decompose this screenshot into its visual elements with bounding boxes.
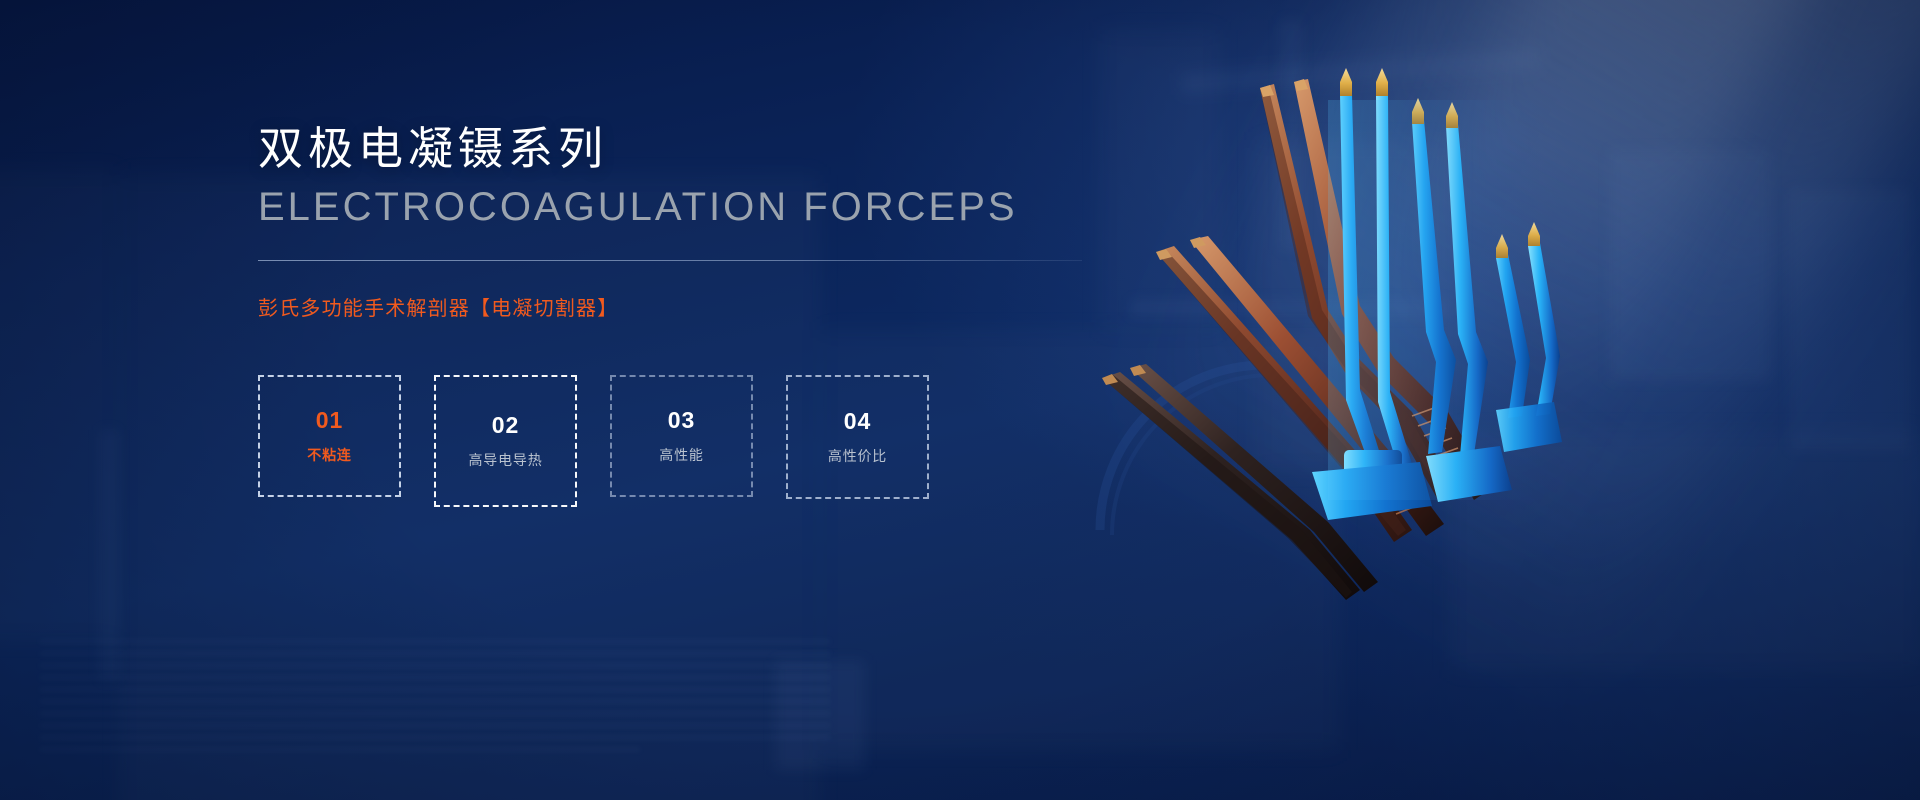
- product-tagline: 彭氏多功能手术解剖器【电凝切割器】: [258, 292, 1138, 321]
- divider: [258, 260, 1082, 261]
- page-subtitle-en: ELECTROCOAGULATION FORCEPS: [258, 183, 1138, 232]
- feature-label: 不粘连: [307, 448, 351, 462]
- feature-label: 高导电导热: [469, 453, 543, 467]
- feature-list: 01 不粘连 02 高导电导热 03 高性能 04 高性价比: [258, 375, 1138, 507]
- forceps-product-image: [1060, 60, 1620, 620]
- feature-label: 高性价比: [828, 449, 887, 463]
- feature-number: 03: [668, 409, 696, 432]
- product-banner: 双极电凝镊系列 ELECTROCOAGULATION FORCEPS 彭氏多功能…: [0, 0, 1920, 800]
- banner-content: 双极电凝镊系列 ELECTROCOAGULATION FORCEPS 彭氏多功能…: [258, 122, 1138, 507]
- feature-label: 高性能: [659, 448, 703, 462]
- feature-number: 02: [492, 414, 520, 437]
- page-title: 双极电凝镊系列: [258, 122, 1138, 177]
- feature-item-02[interactable]: 02 高导电导热: [434, 375, 577, 507]
- feature-item-01[interactable]: 01 不粘连: [258, 375, 401, 497]
- feature-number: 01: [316, 409, 344, 432]
- blue-glow: [1328, 100, 1548, 500]
- feature-item-03[interactable]: 03 高性能: [610, 375, 753, 497]
- feature-item-04[interactable]: 04 高性价比: [786, 375, 929, 499]
- feature-number: 04: [844, 410, 872, 433]
